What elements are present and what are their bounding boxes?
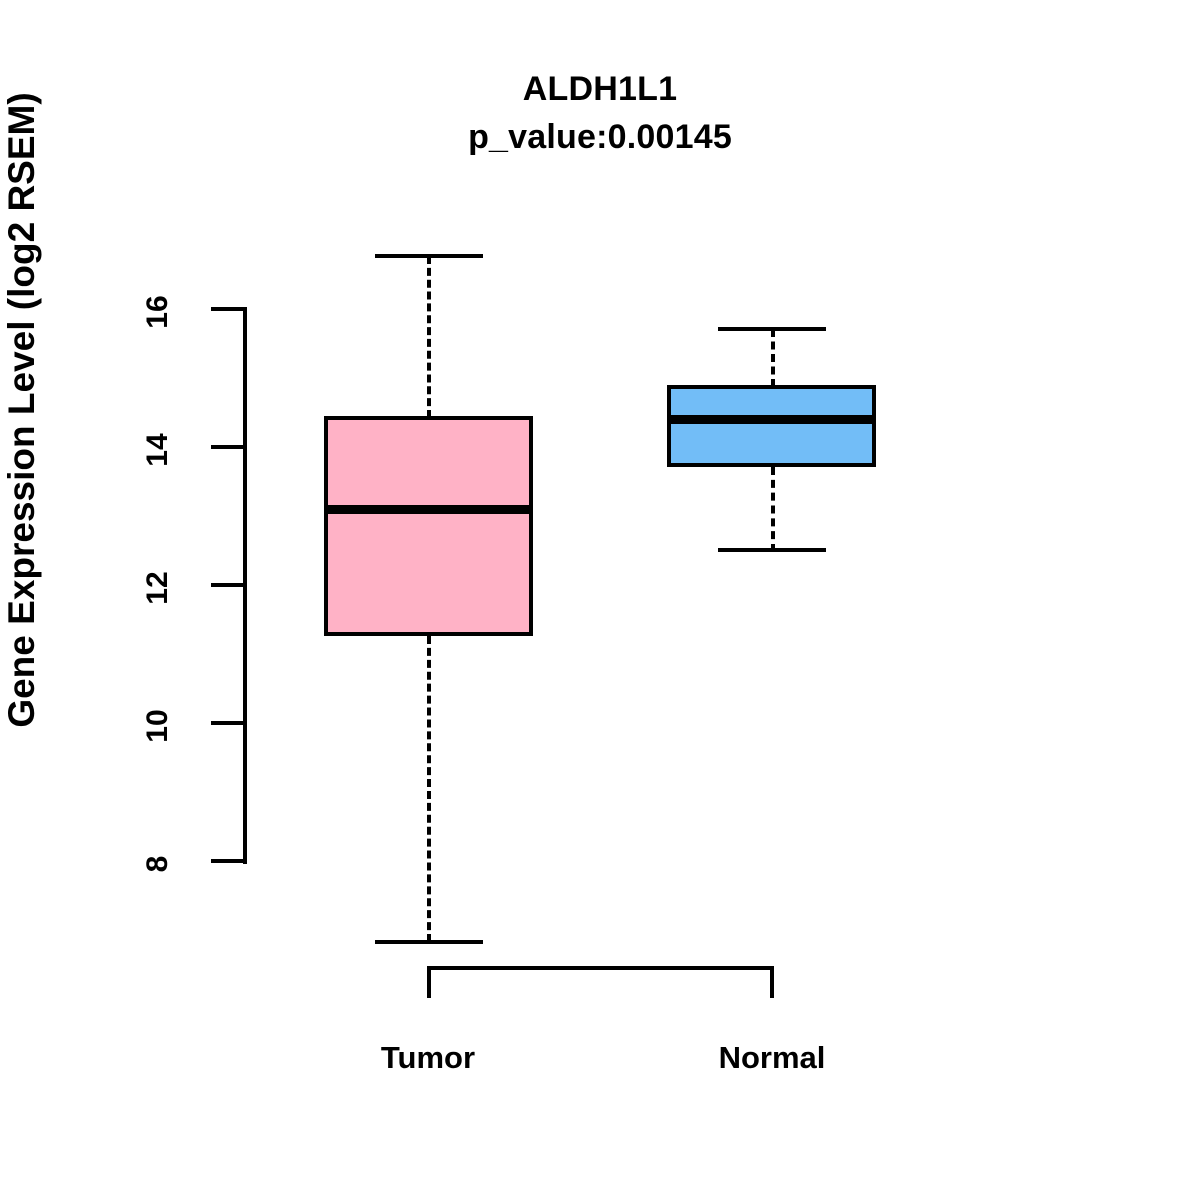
- y-axis-tick-10: [211, 721, 245, 725]
- y-tick-label-14: 14: [140, 420, 176, 480]
- normal-box: [667, 385, 876, 467]
- tumor-upper-whisker: [427, 256, 431, 418]
- boxplot-figure: ALDH1L1 p_value:0.00145 Gene Expression …: [0, 0, 1200, 1200]
- y-tick-label-10: 10: [140, 696, 176, 756]
- chart-title: ALDH1L1: [0, 70, 1200, 109]
- normal-median-line: [667, 415, 876, 424]
- normal-upper-whisker: [771, 329, 775, 387]
- x-axis-line: [427, 966, 774, 970]
- normal-lower-whisker: [771, 467, 775, 552]
- y-tick-label-8: 8: [140, 834, 176, 894]
- tumor-box: [324, 416, 533, 636]
- x-axis-tick-tumor: [427, 966, 431, 998]
- normal-lower-whisker-cap: [718, 548, 826, 552]
- normal-upper-whisker-cap: [718, 327, 826, 331]
- x-tick-label-normal: Normal: [672, 1040, 872, 1076]
- y-axis-tick-14: [211, 445, 245, 449]
- x-tick-label-tumor: Tumor: [328, 1040, 528, 1076]
- y-axis-tick-16: [211, 307, 245, 311]
- chart-subtitle-pvalue: p_value:0.00145: [0, 118, 1200, 157]
- tumor-lower-whisker-cap: [375, 940, 483, 944]
- y-axis-tick-8: [211, 859, 245, 863]
- tumor-upper-whisker-cap: [375, 254, 483, 258]
- tumor-median-line: [324, 505, 533, 514]
- y-tick-label-16: 16: [140, 282, 176, 342]
- y-axis-tick-12: [211, 583, 245, 587]
- y-tick-label-12: 12: [140, 558, 176, 618]
- x-axis-tick-normal: [770, 966, 774, 998]
- y-axis-title: Gene Expression Level (log2 RSEM): [0, 0, 44, 1010]
- tumor-lower-whisker: [427, 636, 431, 942]
